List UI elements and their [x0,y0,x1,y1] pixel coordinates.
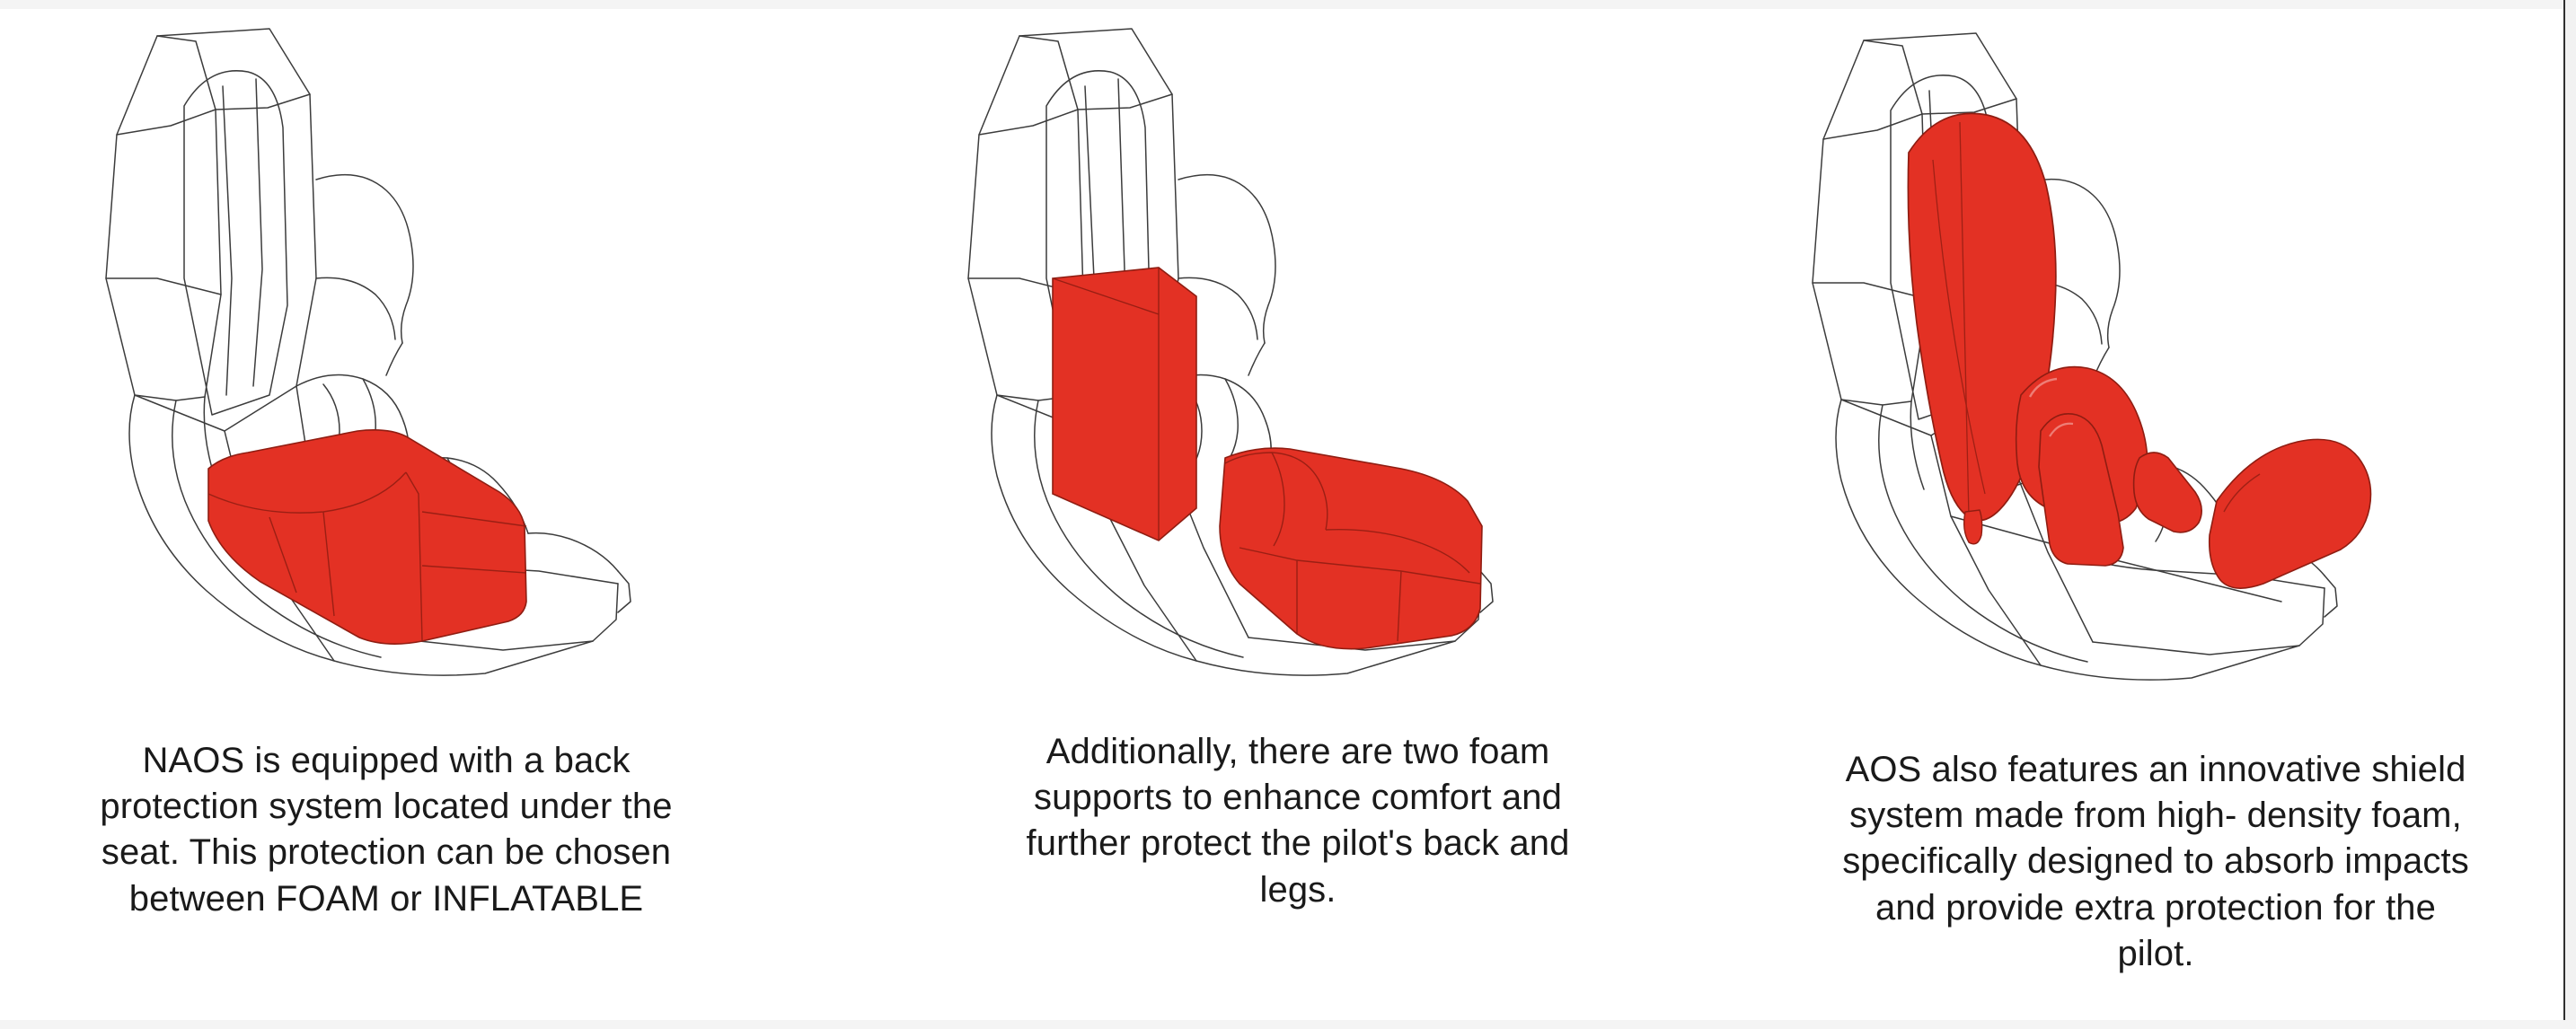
seat-wireframe-with-shield-system [1725,9,2551,718]
right-thigh-pad [2210,439,2371,588]
panel-foam-supports: Additionally, there are two foam support… [862,9,1725,913]
center-groin-pad [2134,453,2202,532]
illustration-page: NAOS is equipped with a back protection … [0,0,2576,1029]
back-foam-support [1053,268,1196,541]
seat-wireframe-with-under-seat-foam [0,9,862,718]
page-bottom-edge-strip [0,1020,2576,1029]
page-right-gutter [2565,0,2576,1029]
panel-caption: NAOS is equipped with a back protection … [72,738,701,922]
seat-wireframe-with-back-and-leg-foam [862,9,1725,718]
panel-aos-shield-system: AOS also features an innovative shield s… [1725,9,2551,977]
panel-naos-back-protection: NAOS is equipped with a back protection … [0,9,862,922]
panel-caption: AOS also features an innovative shield s… [1832,747,2479,977]
backrest-inner-surface [184,71,287,415]
under-seat-protection-pad [208,430,526,644]
panel-row: NAOS is equipped with a back protection … [0,9,2551,1020]
leg-foam-support [1220,448,1482,649]
headrest-wing [316,175,413,375]
page-top-edge-strip [0,0,2576,9]
panel-caption: Additionally, there are two foam support… [984,729,1612,913]
backrest-outer-shell [106,29,316,431]
